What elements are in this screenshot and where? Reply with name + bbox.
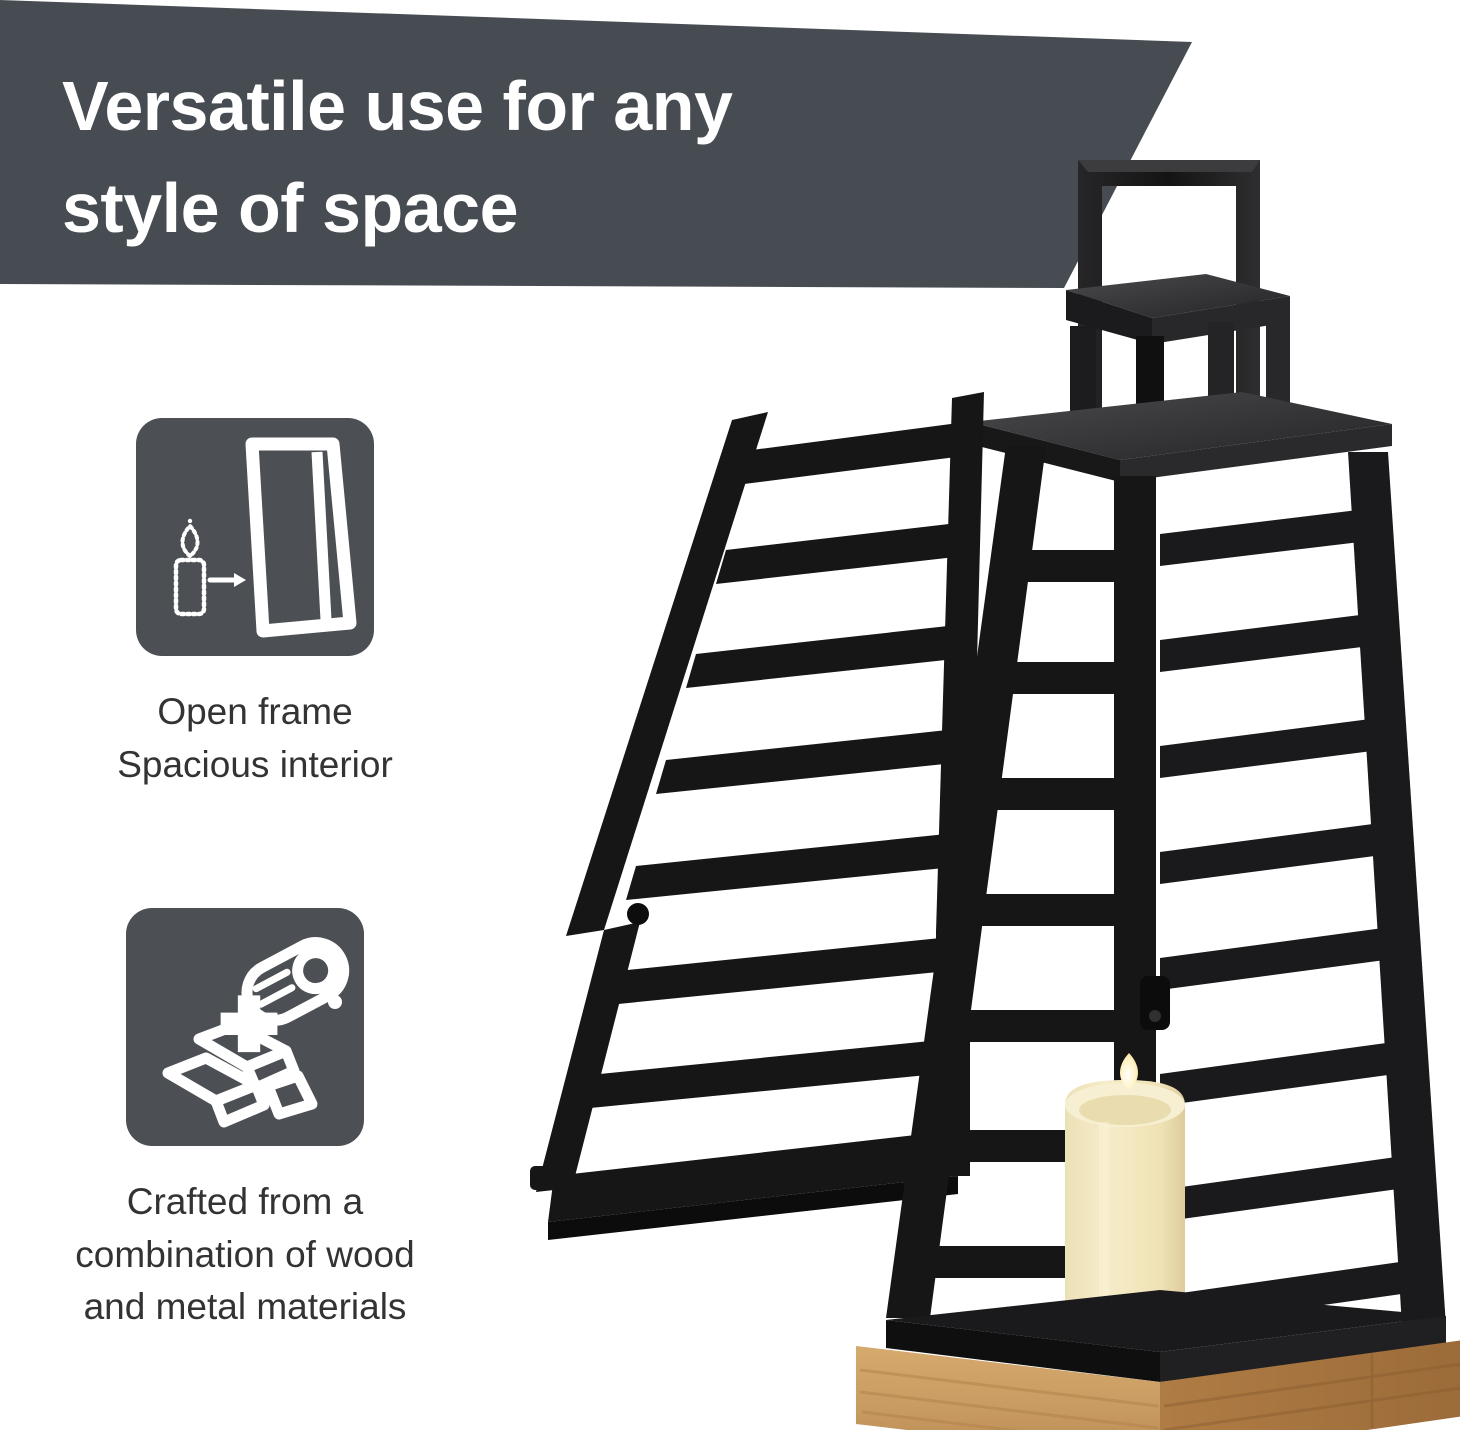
feature-block-materials: Crafted from a combination of wood and m… — [10, 908, 480, 1334]
feature-2-caption: Crafted from a combination of wood and m… — [10, 1176, 480, 1334]
feature-1-caption: Open frame Spacious interior — [20, 686, 490, 791]
product-image-lantern — [500, 130, 1460, 1430]
lantern-side-slat-face — [1160, 452, 1446, 1328]
metal-ingots-plus-wood-log-icon — [126, 908, 364, 1146]
lantern-latch — [1140, 976, 1170, 1030]
feature-block-open-frame: Open frame Spacious interior — [20, 418, 490, 791]
lantern-illustration — [500, 130, 1460, 1430]
feature-1-icon-box — [136, 418, 374, 656]
infographic-page: Versatile use for any style of space Ope… — [0, 0, 1470, 1436]
lantern-hinge-icon — [627, 903, 649, 925]
feature-2-icon-box — [126, 908, 364, 1146]
candle-in-open-frame-lantern-icon — [136, 418, 374, 656]
